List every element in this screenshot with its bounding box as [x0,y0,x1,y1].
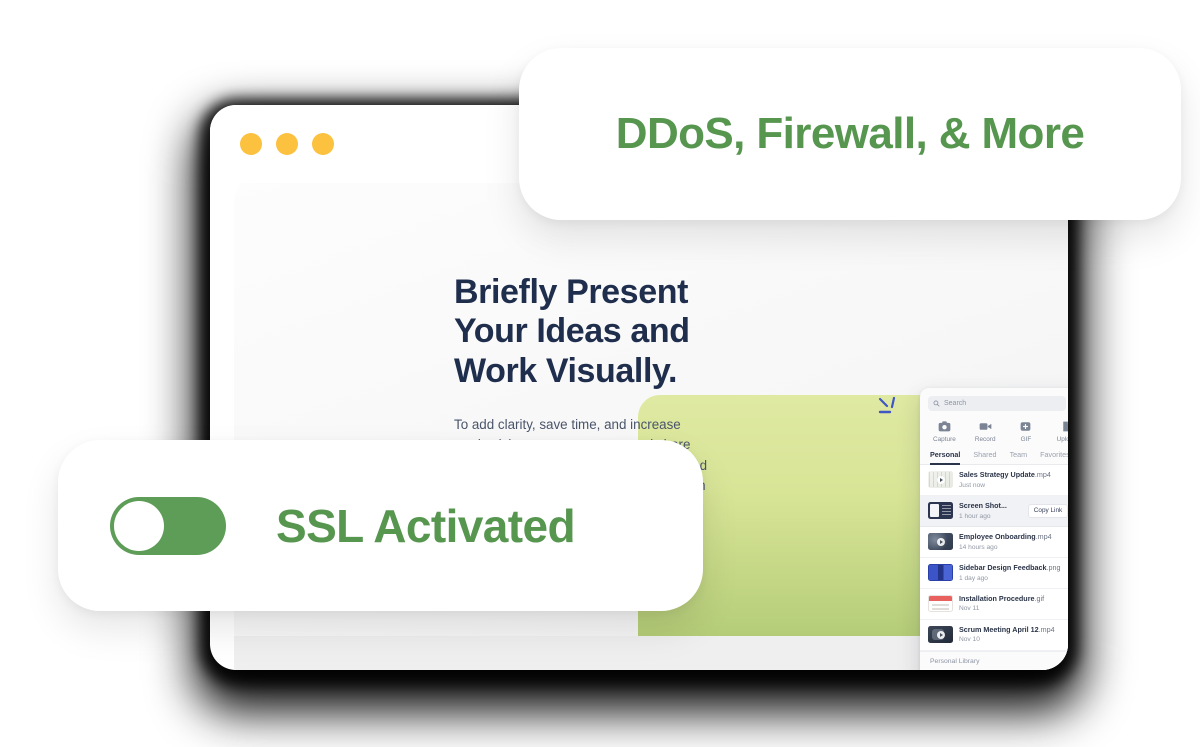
table-row[interactable]: Sidebar Design Feedback.png 1 day ago 12 [920,558,1068,589]
file-thumbnail [928,502,953,519]
file-timestamp: Just now [959,481,1068,490]
file-timestamp: 1 day ago [959,574,1068,583]
plus-square-icon [1019,420,1032,433]
headline-line-3: Work Visually. [454,352,754,391]
headline-line-1: Briefly Present [454,273,754,312]
search-input[interactable]: Search [928,396,1066,411]
app-footer-label: Personal Library [920,651,1068,670]
toolbar-item-gif[interactable]: GIF [1006,420,1047,443]
ssl-feature-label: SSL Activated [276,499,575,553]
file-name: Screen Shot... [959,501,1022,511]
page-title: Briefly Present Your Ideas and Work Visu… [454,273,754,391]
window-dot-maximize-icon[interactable] [312,133,334,155]
ddos-feature-card: DDoS, Firewall, & More [519,48,1181,220]
file-name: Employee Onboarding.mp4 [959,532,1068,542]
copy-link-button[interactable]: Copy Link [1028,504,1068,518]
tab-shared[interactable]: Shared [973,450,996,464]
tab-team[interactable]: Team [1010,450,1028,464]
file-timestamp: 14 hours ago [959,543,1068,552]
file-thumbnail [928,595,953,612]
headline-line-2: Your Ideas and [454,312,754,351]
video-camera-icon [979,420,992,433]
sparkle-accent-icon [878,397,904,419]
file-list: Sales Strategy Update.mp4 Just now 0 Scr… [920,465,1068,651]
table-row[interactable]: Installation Procedure.gif Nov 11 21 [920,589,1068,620]
window-dot-close-icon[interactable] [240,133,262,155]
tab-personal[interactable]: Personal [930,450,960,464]
search-icon [933,400,940,407]
toolbar-item-record[interactable]: Record [965,420,1006,443]
screenshot-stage: Briefly Present Your Ideas and Work Visu… [0,0,1200,747]
file-timestamp: Nov 10 [959,635,1068,644]
table-row[interactable]: Sales Strategy Update.mp4 Just now 0 [920,465,1068,496]
file-name: Installation Procedure.gif [959,594,1068,604]
ssl-feature-card: SSL Activated [58,440,703,611]
file-thumbnail [928,626,953,643]
toolbar-label-upload: Upload [1057,436,1068,443]
toolbar-label-gif: GIF [1021,436,1032,443]
toolbar-label-record: Record [975,436,996,443]
search-placeholder: Search [944,400,966,407]
ssl-toggle-knob [114,501,164,551]
file-thumbnail [928,533,953,550]
file-timestamp: 1 hour ago [959,512,1022,521]
app-panel: Search ▾ [920,388,1068,670]
file-timestamp: Nov 11 [959,604,1068,613]
file-thumbnail [928,471,953,488]
file-name: Scrum Meeting April 12.mp4 [959,625,1068,635]
table-row[interactable]: Employee Onboarding.mp4 14 hours ago 8 [920,527,1068,558]
toolbar-item-upload[interactable]: Upload [1046,420,1068,443]
camera-icon [938,420,951,433]
ddos-feature-label: DDoS, Firewall, & More [616,109,1084,159]
file-name: Sales Strategy Update.mp4 [959,470,1068,480]
ssl-toggle[interactable] [110,497,226,555]
app-toolbar: Capture Record GIF [920,411,1068,450]
table-row[interactable]: Screen Shot... 1 hour ago Copy Link Shar… [920,496,1068,527]
document-icon [1060,420,1068,433]
row-actions: Copy Link Share ••• [1028,504,1068,518]
tab-favorites[interactable]: Favorites [1040,450,1068,464]
app-tabs: Personal Shared Team Favorites [920,450,1068,465]
app-header: Search ▾ [920,388,1068,411]
toolbar-item-capture[interactable]: Capture [924,420,965,443]
file-thumbnail [928,564,953,581]
toolbar-label-capture: Capture [933,436,956,443]
window-dot-minimize-icon[interactable] [276,133,298,155]
table-row[interactable]: Scrum Meeting April 12.mp4 Nov 10 27 [920,620,1068,651]
file-name: Sidebar Design Feedback.png [959,563,1068,573]
